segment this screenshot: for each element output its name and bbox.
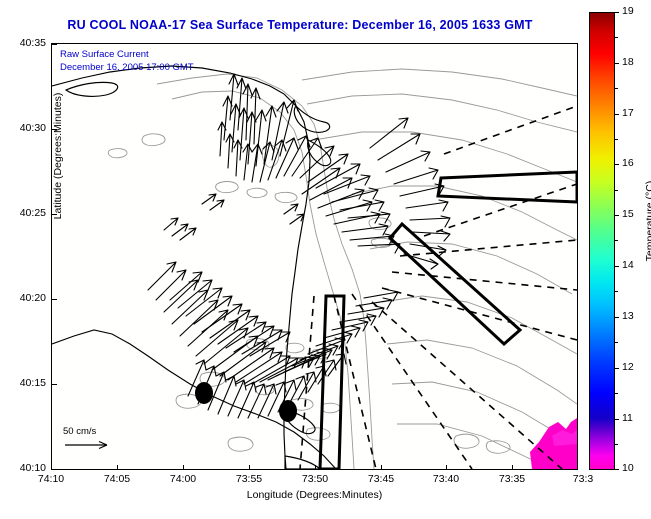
x-tick-label: 73:55 — [219, 473, 279, 485]
x-axis-title: Longitude (Degrees:Minutes) — [51, 489, 578, 501]
colorbar-tick-label: 11 — [622, 412, 633, 424]
annotation-line-2: December 16, 2005 17:00 GMT — [60, 62, 194, 75]
temperature-colorbar — [589, 12, 615, 470]
sst-map-figure: RU COOL NOAA-17 Sea Surface Temperature:… — [0, 0, 651, 519]
x-tick-label: 73:45 — [351, 473, 411, 485]
colorbar-title: Temperature (°C) — [644, 131, 651, 311]
map-graphics — [52, 44, 577, 469]
colorbar-tick-label: 17 — [622, 107, 634, 119]
colorbar-tick-label: 14 — [622, 259, 634, 271]
colorbar-tick-label: 18 — [622, 56, 634, 68]
right-arrow-icon — [63, 439, 115, 451]
sst-pixel-patch — [530, 418, 577, 469]
y-tick-label: 40:35 — [2, 37, 46, 49]
colorbar-tick-label: 13 — [622, 310, 634, 322]
x-tick-label: 74:10 — [21, 473, 81, 485]
bathymetry-contours — [108, 69, 577, 469]
x-tick-label: 74:05 — [87, 473, 147, 485]
map-plot-area: Raw Surface Current December 16, 2005 17… — [51, 43, 578, 470]
velocity-scale-legend: 50 cm/s — [63, 426, 115, 454]
x-tick-label: 73:35 — [482, 473, 542, 485]
x-tick-label: 73:40 — [416, 473, 476, 485]
x-tick-label: 74:00 — [153, 473, 213, 485]
colorbar-tick-label: 12 — [622, 361, 634, 373]
colorbar-tick-label: 15 — [622, 208, 634, 220]
current-annotation: Raw Surface Current December 16, 2005 17… — [60, 49, 194, 74]
y-tick-label: 40:15 — [2, 377, 46, 389]
annotation-line-1: Raw Surface Current — [60, 49, 194, 62]
x-tick-label: 73:50 — [285, 473, 345, 485]
velocity-scale-label: 50 cm/s — [63, 426, 115, 437]
y-tick-label: 40:10 — [2, 462, 46, 474]
y-tick-label: 40:25 — [2, 207, 46, 219]
colorbar-tick-label: 10 — [622, 462, 634, 474]
y-tick-label: 40:30 — [2, 122, 46, 134]
colorbar-tick-label: 19 — [622, 5, 634, 17]
colorbar-tick-label: 16 — [622, 157, 634, 169]
y-axis-title: Latitude (Degrees:Minutes) — [52, 46, 64, 266]
figure-title: RU COOL NOAA-17 Sea Surface Temperature:… — [0, 18, 600, 32]
y-tick-label: 40:20 — [2, 292, 46, 304]
x-tick-label: 73:3 — [553, 473, 613, 485]
